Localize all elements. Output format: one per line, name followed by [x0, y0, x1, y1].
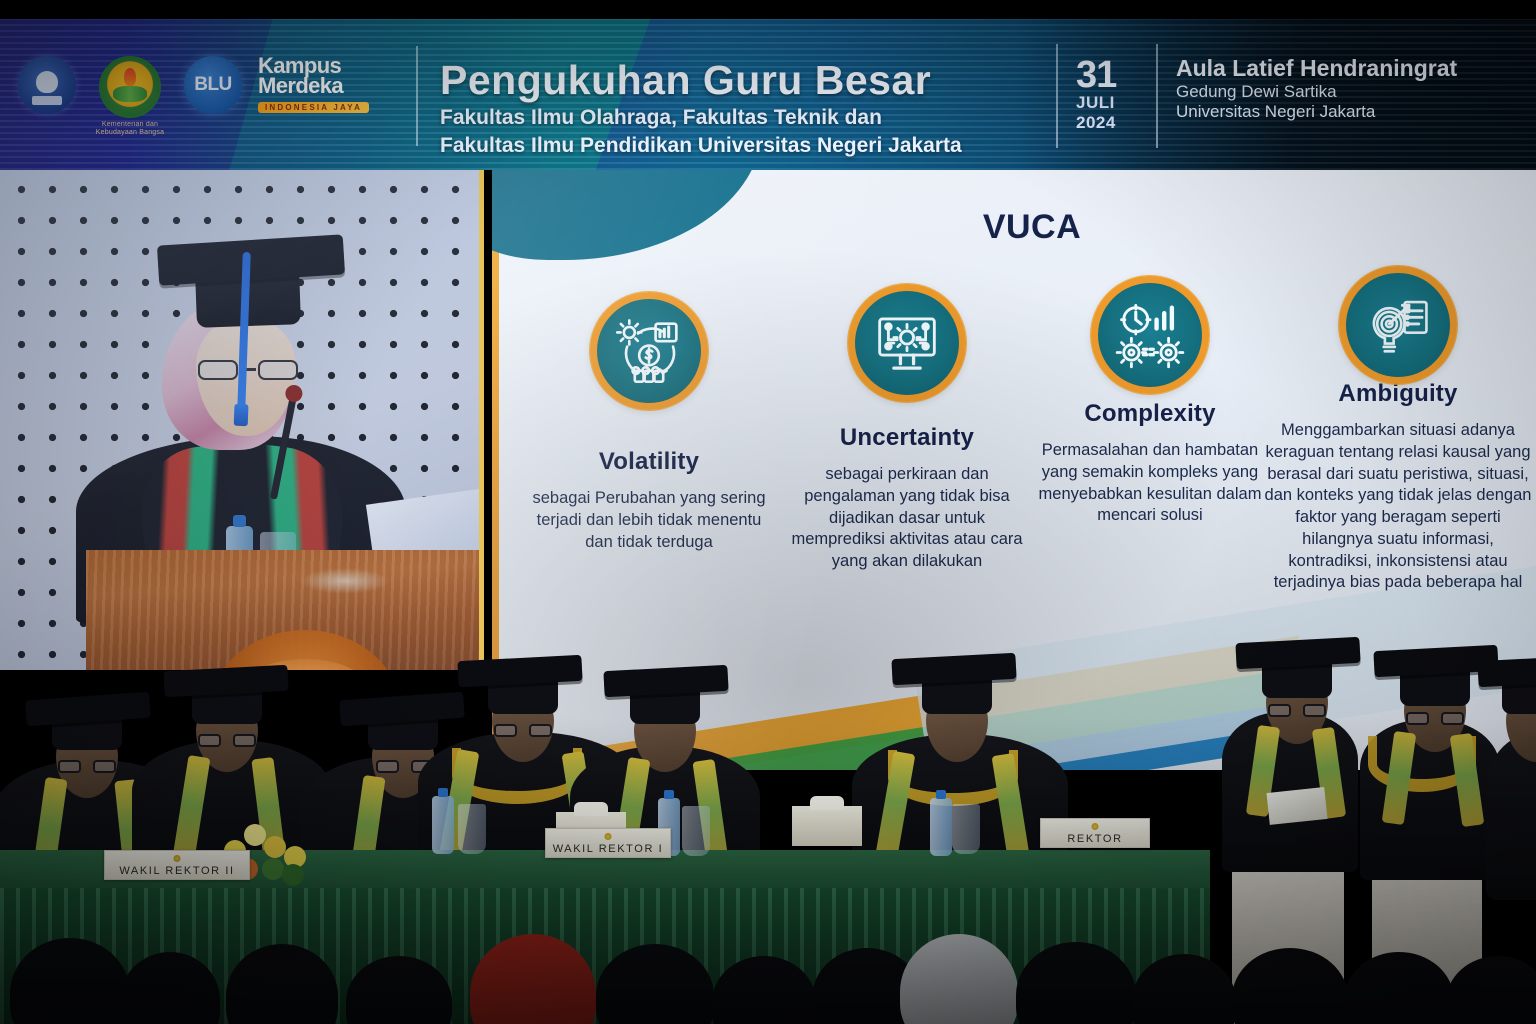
audience-head [1132, 954, 1236, 1024]
drinking-glass [682, 806, 710, 856]
audience-foreground [0, 890, 1536, 1024]
eyeglasses [198, 734, 256, 747]
blu-logo-icon: BLU [184, 56, 242, 114]
drinking-glass [458, 804, 486, 854]
screen-bezel-top [0, 0, 1536, 19]
mortarboard-top [891, 653, 1016, 685]
speaker-video-feed [0, 170, 484, 670]
audience-head [10, 938, 130, 1024]
gear-chart-money-people-icon [590, 292, 708, 410]
audience-head [120, 952, 220, 1024]
banner-divider-2 [1056, 44, 1058, 148]
tissue-box [792, 806, 862, 846]
kampus-merdeka-line2: Merdeka [258, 76, 369, 97]
venue-hall-name: Aula Latief Hendraningrat [1176, 56, 1457, 82]
vuca-body-complexity: Permasalahan dan hambatan yang semakin k… [1032, 440, 1268, 527]
event-venue-block: Aula Latief Hendraningrat Gedung Dewi Sa… [1176, 56, 1457, 123]
event-banner: Kementerian dan Kebudayaan Bangsa BLU Ka… [0, 18, 1536, 170]
blu-logo-text: BLU [194, 74, 232, 96]
unj-logo-group: Kementerian dan Kebudayaan Bangsa [90, 56, 170, 137]
kampus-merdeka-tagline: INDONESIA JAYA [258, 102, 369, 113]
event-date-month: JULI [1076, 93, 1116, 113]
audience-head [596, 944, 714, 1024]
slide-corner-shape-teal [492, 170, 762, 260]
vuca-body-uncertainty: sebagai perkiraan dan pengalaman yang ti… [780, 464, 1034, 573]
target-bulb-document-icon [1339, 266, 1457, 384]
audience-head [1016, 942, 1136, 1024]
drinking-glass [952, 804, 980, 854]
audience-head [1344, 952, 1454, 1024]
screenshot-root: Kementerian dan Kebudayaan Bangsa BLU Ka… [0, 0, 1536, 1024]
audience-head [226, 944, 338, 1024]
mortarboard-top [1235, 637, 1360, 669]
water-bottle [930, 798, 952, 856]
mortarboard-top [163, 665, 288, 697]
banner-divider-1 [416, 46, 418, 146]
unj-logo-icon [99, 56, 161, 118]
audience-head [1446, 956, 1536, 1024]
kampus-merdeka-logo-group: Kampus Merdeka INDONESIA JAYA [258, 56, 369, 115]
venue-building-name: Gedung Dewi Sartika [1176, 82, 1457, 102]
venue-university-name: Universitas Negeri Jakarta [1176, 102, 1457, 122]
vuca-name-complexity: Complexity [1032, 400, 1268, 428]
audience-head [712, 956, 816, 1024]
kemendikbud-logo-icon [18, 56, 76, 114]
eyeglasses [494, 724, 552, 737]
audience-head [346, 956, 452, 1024]
event-subtitle-line1: Fakultas Ilmu Olahraga, Fakultas Teknik … [440, 105, 962, 130]
program-booklet [1266, 787, 1327, 825]
nameplate-rektor: REKTOR [1040, 818, 1150, 848]
event-title: Pengukuhan Guru Besar [440, 60, 962, 102]
vuca-name-uncertainty: Uncertainty [780, 424, 1034, 452]
eyeglasses [58, 760, 116, 773]
event-date-year: 2024 [1076, 113, 1116, 133]
mortarboard-top [25, 692, 151, 727]
vuca-column-complexity: Complexity Permasalahan dan hambatan yan… [1032, 280, 1268, 527]
nameplate-wakil-rektor-1: WAKIL REKTOR I [545, 828, 671, 858]
vuca-body-volatility: sebagai Perubahan yang sering terjadi da… [522, 488, 776, 553]
monitor-network-gear-icon [848, 284, 966, 402]
logo-strip: Kementerian dan Kebudayaan Bangsa BLU Ka… [18, 56, 369, 137]
vuca-column-ambiguity: Ambiguity Menggambarkan situasi adanya k… [1264, 280, 1532, 594]
banner-divider-3 [1156, 44, 1158, 148]
event-date-block: 31 JULI 2024 [1076, 58, 1116, 132]
audience-head [1232, 948, 1348, 1024]
nameplate-wakil-rektor-2: WAKIL REKTOR II [104, 850, 250, 880]
vuca-name-ambiguity: Ambiguity [1264, 380, 1532, 408]
water-bottle [432, 796, 454, 854]
unj-logo-caption: Kementerian dan Kebudayaan Bangsa [90, 121, 170, 137]
vuca-column-volatility: Volatility sebagai Perubahan yang sering… [522, 280, 776, 553]
mortarboard-top [339, 692, 465, 727]
mortarboard-top [457, 655, 582, 687]
slide-title: VUCA [972, 208, 1092, 247]
vuca-name-volatility: Volatility [522, 448, 776, 476]
eyeglasses [1268, 704, 1326, 717]
mortarboard-top [603, 665, 728, 697]
vuca-body-ambiguity: Menggambarkan situasi adanya keraguan te… [1264, 420, 1532, 594]
banner-title-block: Pengukuhan Guru Besar Fakultas Ilmu Olah… [440, 60, 962, 158]
vuca-column-uncertainty: Uncertainty sebagai perkiraan dan pengal… [780, 280, 1034, 573]
audience-head-white [900, 934, 1018, 1024]
eyeglasses [1406, 712, 1464, 725]
event-subtitle-line2: Fakultas Ilmu Pendidikan Universitas Neg… [440, 133, 962, 158]
pip-color-tint [0, 170, 479, 670]
audience-head-red-cap [470, 934, 596, 1024]
event-date-day: 31 [1076, 58, 1116, 93]
clock-bars-gears-icon [1091, 276, 1209, 394]
